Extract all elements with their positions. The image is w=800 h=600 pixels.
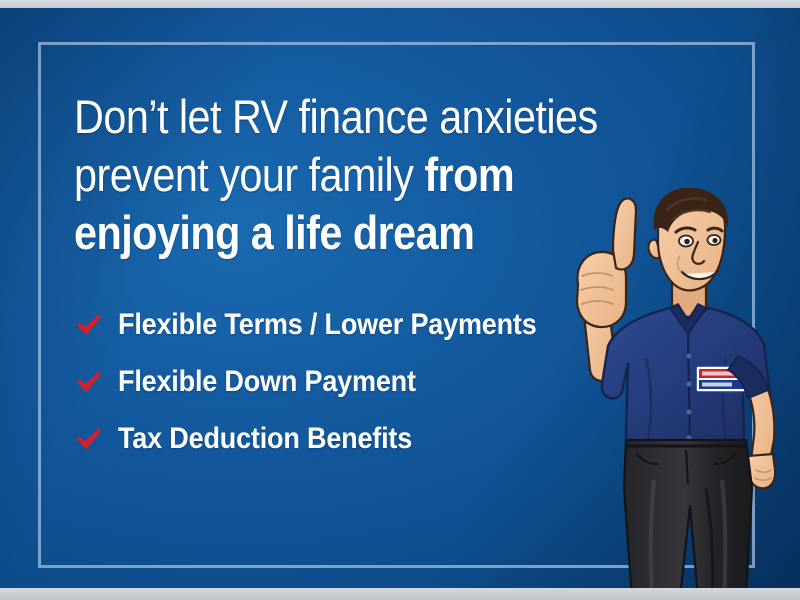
list-item: Flexible Terms / Lower Payments bbox=[74, 296, 594, 353]
check-icon bbox=[74, 424, 104, 454]
promo-banner: Don’t let RV finance anxieties prevent y… bbox=[0, 0, 800, 600]
headline-line-3-bold: enjoying a life dream bbox=[74, 206, 474, 259]
headline-line-2: prevent your family from bbox=[74, 146, 584, 204]
check-icon bbox=[74, 367, 104, 397]
page-title: Don’t let RV finance anxieties prevent y… bbox=[74, 88, 584, 262]
check-icon bbox=[74, 310, 104, 340]
headline-line-1: Don’t let RV finance anxieties bbox=[74, 88, 584, 146]
pants bbox=[624, 440, 752, 588]
benefits-list: Flexible Terms / Lower Payments Flexible… bbox=[74, 296, 594, 467]
bottom-edge-band bbox=[0, 588, 800, 600]
head bbox=[649, 188, 729, 320]
list-item: Tax Deduction Benefits bbox=[74, 410, 594, 467]
headline-line-2-bold: from bbox=[424, 148, 514, 201]
list-item-label: Tax Deduction Benefits bbox=[118, 424, 412, 454]
banner-artboard: Don’t let RV finance anxieties prevent y… bbox=[0, 8, 800, 588]
top-edge-band bbox=[0, 0, 800, 8]
headline-line-3: enjoying a life dream bbox=[74, 204, 584, 262]
headline-line-2-regular: prevent your family bbox=[74, 148, 424, 201]
list-item: Flexible Down Payment bbox=[74, 353, 594, 410]
headline-line-1-text: Don’t let RV finance anxieties bbox=[74, 90, 598, 143]
list-item-label: Flexible Down Payment bbox=[118, 367, 416, 397]
list-item-label: Flexible Terms / Lower Payments bbox=[118, 310, 537, 340]
